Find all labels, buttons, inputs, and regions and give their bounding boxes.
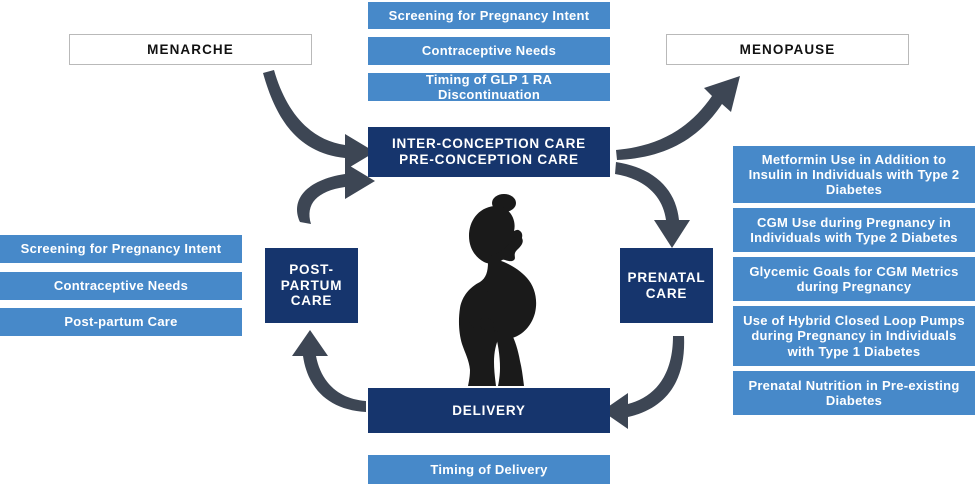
topic-box-bottom-1[interactable]: Timing of Delivery (368, 455, 610, 484)
arrow-menarche-to-interconception-icon (263, 70, 375, 170)
stage-post-partum-care[interactable]: POST- PARTUM CARE (265, 248, 358, 323)
stage-delivery[interactable]: DELIVERY (368, 388, 610, 433)
endpoint-menopause[interactable]: MENOPAUSE (666, 34, 909, 65)
topic-box-right-3[interactable]: Glycemic Goals for CGM Metrics during Pr… (733, 257, 975, 301)
pregnant-woman-silhouette-icon (432, 190, 582, 386)
topic-box-right-2[interactable]: CGM Use during Pregnancy in Individuals … (733, 208, 975, 252)
care-cycle-diagram: Screening for Pregnancy Intent Contracep… (0, 0, 975, 486)
topic-box-right-5[interactable]: Prenatal Nutrition in Pre-existing Diabe… (733, 371, 975, 415)
arrow-prenatal-to-delivery-icon (602, 336, 684, 429)
topic-box-left-2[interactable]: Contraceptive Needs (0, 272, 242, 300)
arrow-interconception-to-menopause-icon (616, 76, 740, 160)
arrow-delivery-to-postpartum-icon (292, 330, 366, 412)
topic-box-left-3[interactable]: Post-partum Care (0, 308, 242, 336)
topic-box-top-2[interactable]: Contraceptive Needs (368, 37, 610, 65)
topic-box-top-1[interactable]: Screening for Pregnancy Intent (368, 2, 610, 29)
topic-box-left-1[interactable]: Screening for Pregnancy Intent (0, 235, 242, 263)
arrow-postpartum-to-interconception-icon (297, 163, 375, 224)
arrow-interconception-to-prenatal-icon (615, 162, 690, 248)
topic-box-top-3[interactable]: Timing of GLP 1 RA Discontinuation (368, 73, 610, 101)
endpoint-menarche[interactable]: MENARCHE (69, 34, 312, 65)
topic-box-right-4[interactable]: Use of Hybrid Closed Loop Pumps during P… (733, 306, 975, 366)
stage-inter-pre-conception-care[interactable]: INTER-CONCEPTION CARE PRE-CONCEPTION CAR… (368, 127, 610, 177)
stage-prenatal-care[interactable]: PRENATAL CARE (620, 248, 713, 323)
topic-box-right-1[interactable]: Metformin Use in Addition to Insulin in … (733, 146, 975, 203)
